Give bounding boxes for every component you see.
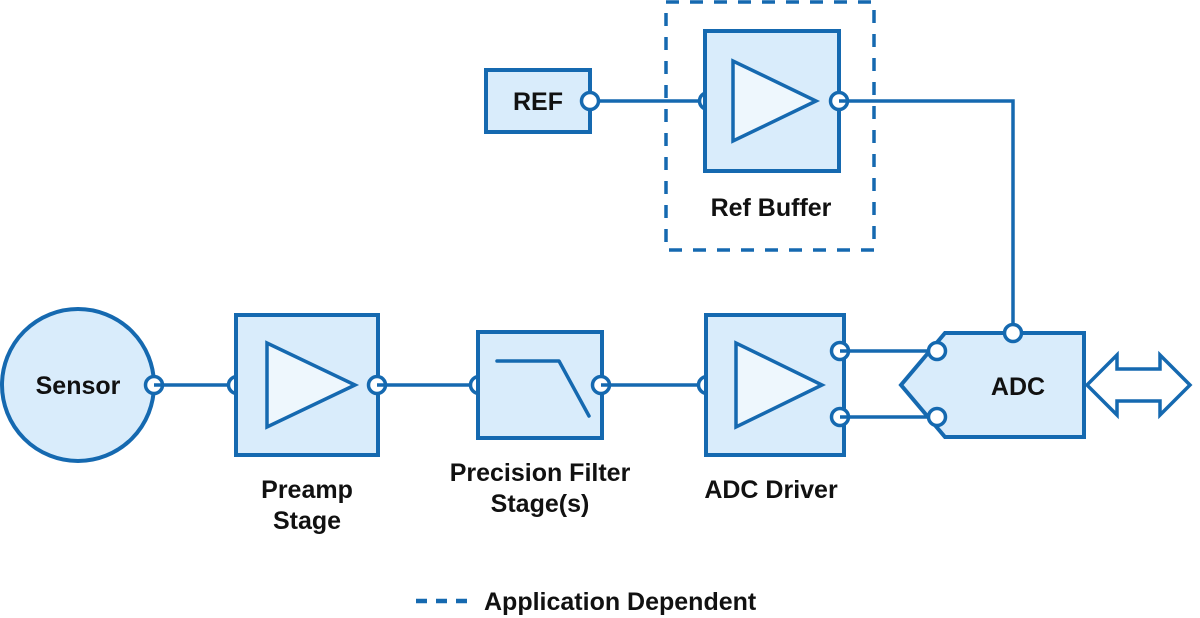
- preamp-label-line1: Preamp: [261, 476, 353, 504]
- node-adc-reference-input[interactable]: [1005, 325, 1022, 342]
- sensor-label: Sensor: [36, 372, 121, 400]
- ref-block-label: REF: [513, 88, 563, 116]
- filter-block[interactable]: [478, 332, 602, 438]
- preamp-label-line2: Stage: [273, 507, 341, 535]
- adc-label: ADC: [991, 373, 1045, 401]
- diagram-canvas: REF Ref Buffer Sensor Preamp Stage Pr: [0, 0, 1200, 618]
- legend-label: Application Dependent: [484, 588, 757, 616]
- filter-label-line2: Stage(s): [491, 490, 590, 518]
- signal-chain-diagram: REF Ref Buffer Sensor Preamp Stage Pr: [0, 0, 1200, 618]
- ref-buffer-label: Ref Buffer: [711, 194, 832, 222]
- node-adc-input-positive[interactable]: [929, 343, 946, 360]
- adc-driver-label: ADC Driver: [704, 476, 838, 504]
- adc-digital-output-arrow-icon: [1087, 355, 1190, 415]
- node-ref-output[interactable]: [582, 93, 599, 110]
- node-adc-input-negative[interactable]: [929, 409, 946, 426]
- wire-refbuffer-to-adc-ref: [839, 101, 1013, 332]
- filter-label-line1: Precision Filter: [450, 459, 631, 487]
